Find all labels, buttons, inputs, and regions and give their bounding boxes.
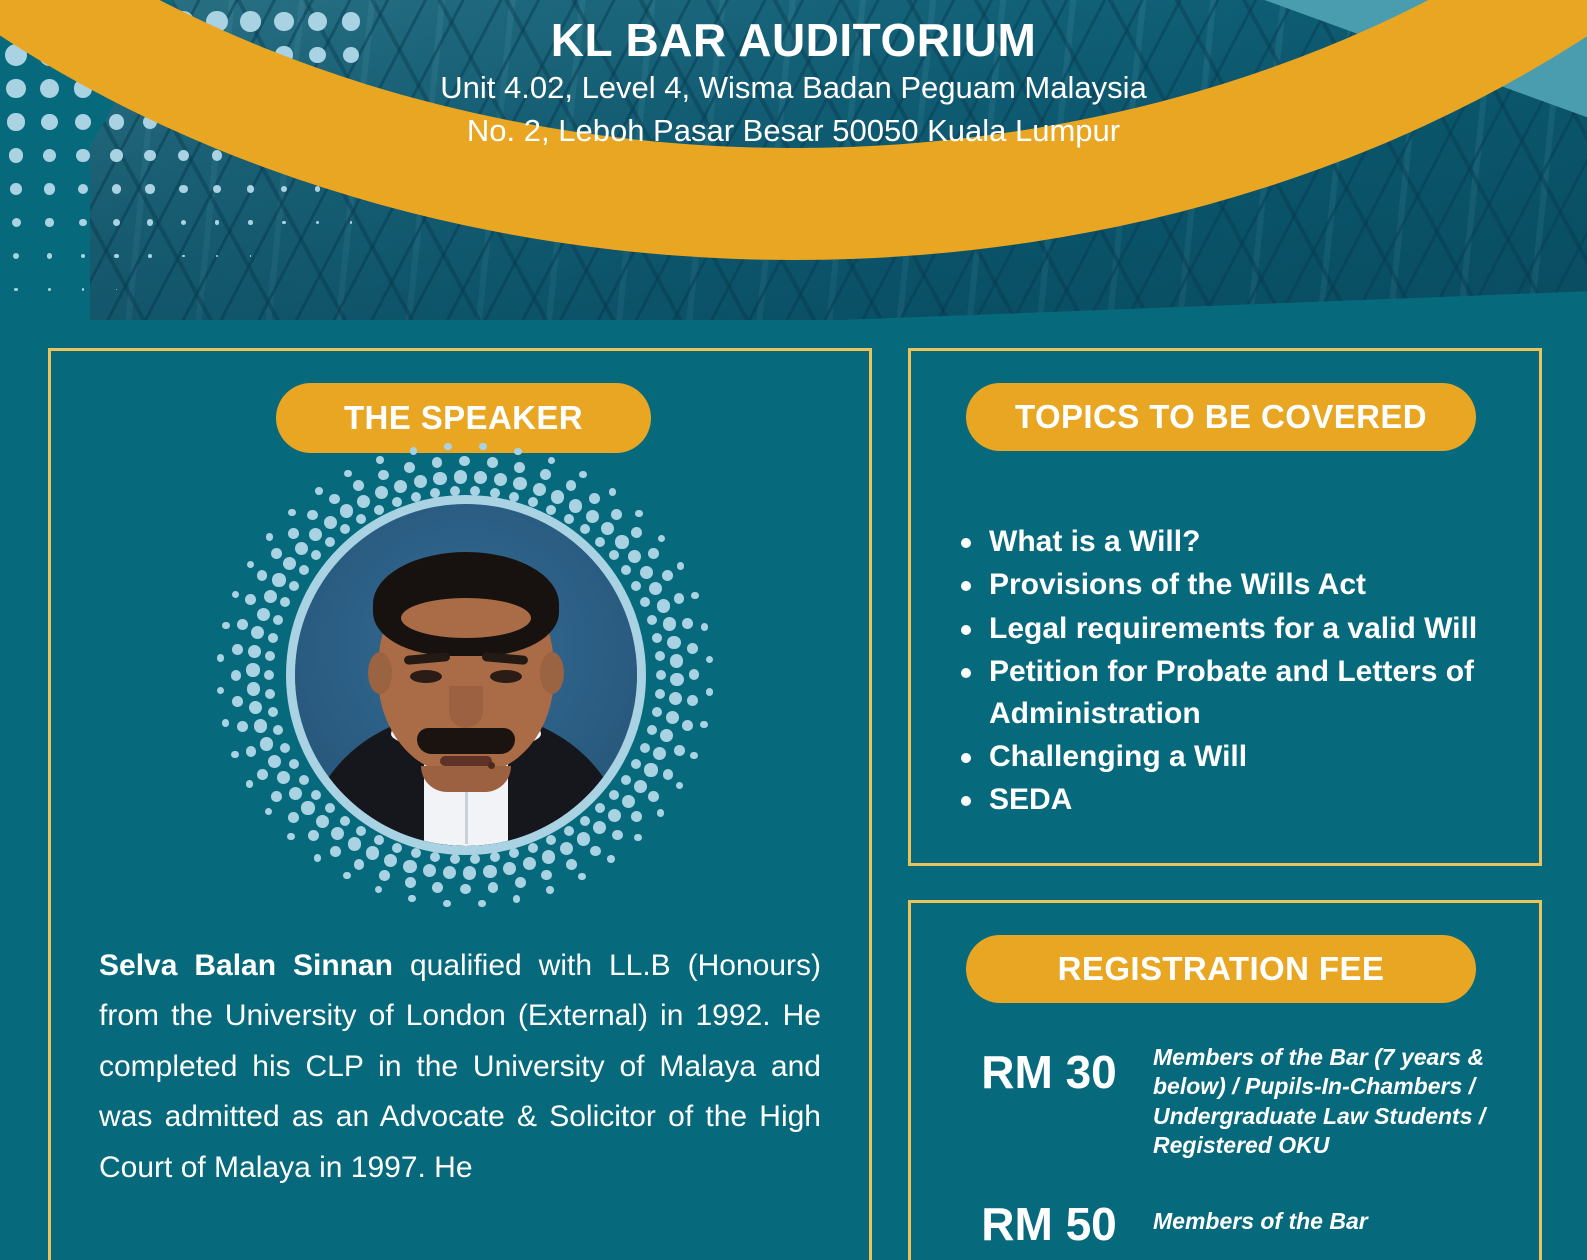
speaker-card: THE SPEAKER <box>48 348 872 1260</box>
topic-item: What is a Will? <box>953 521 1517 562</box>
speaker-portrait-wrapper <box>210 477 720 917</box>
portrait-moustache <box>417 728 515 754</box>
fee-description: Members of the Bar (7 years & below) / P… <box>1153 1043 1521 1161</box>
topic-item: Provisions of the Wills Act <box>953 564 1517 605</box>
header-band: KL BAR AUDITORIUM Unit 4.02, Level 4, Wi… <box>0 0 1587 320</box>
portrait-nose <box>449 686 483 728</box>
topic-item: SEDA <box>953 779 1517 820</box>
registration-fee-card: REGISTRATION FEE RM 30 Members of the Ba… <box>908 900 1542 1260</box>
portrait-ring <box>286 495 646 855</box>
speaker-section-badge: THE SPEAKER <box>276 383 651 453</box>
fee-rows: RM 30 Members of the Bar (7 years & belo… <box>945 1043 1521 1260</box>
address-line-1: Unit 4.02, Level 4, Wisma Badan Peguam M… <box>0 67 1587 110</box>
portrait-eye-right <box>490 670 522 683</box>
topic-item: Challenging a Will <box>953 736 1517 777</box>
avatar <box>295 504 637 846</box>
portrait-eye-left <box>410 670 442 683</box>
topics-list: What is a Will?Provisions of the Wills A… <box>953 521 1517 823</box>
portrait-mouth <box>440 756 492 766</box>
page-title: KL BAR AUDITORIUM <box>0 14 1587 67</box>
registration-fee-badge: REGISTRATION FEE <box>966 935 1476 1003</box>
speaker-name: Selva Balan Sinnan <box>99 949 393 982</box>
speaker-bio: Selva Balan Sinnan qualified with LL.B (… <box>99 941 821 1193</box>
event-poster: KL BAR AUDITORIUM Unit 4.02, Level 4, Wi… <box>0 0 1587 1260</box>
portrait-chin <box>421 766 511 792</box>
header-text-block: KL BAR AUDITORIUM Unit 4.02, Level 4, Wi… <box>0 14 1587 152</box>
fee-row: RM 50 Members of the Bar <box>945 1195 1521 1250</box>
topics-card: TOPICS TO BE COVERED What is a Will?Prov… <box>908 348 1542 866</box>
portrait-ear-right <box>540 652 564 694</box>
portrait-mole <box>488 762 495 769</box>
topic-item: Petition for Probate and Letters of Admi… <box>953 651 1517 734</box>
address-line-2: No. 2, Leboh Pasar Besar 50050 Kuala Lum… <box>0 110 1587 153</box>
fee-description: Members of the Bar <box>1153 1195 1521 1236</box>
fee-row: RM 30 Members of the Bar (7 years & belo… <box>945 1043 1521 1161</box>
topic-item: Legal requirements for a valid Will <box>953 608 1517 649</box>
portrait-hair <box>373 552 559 656</box>
topics-section-badge: TOPICS TO BE COVERED <box>966 383 1476 451</box>
fee-amount: RM 30 <box>945 1043 1153 1098</box>
portrait-ear-left <box>368 652 392 694</box>
speaker-bio-rest: qualified with LL.B (Honours) from the U… <box>99 949 821 1184</box>
fee-amount: RM 50 <box>945 1195 1153 1250</box>
